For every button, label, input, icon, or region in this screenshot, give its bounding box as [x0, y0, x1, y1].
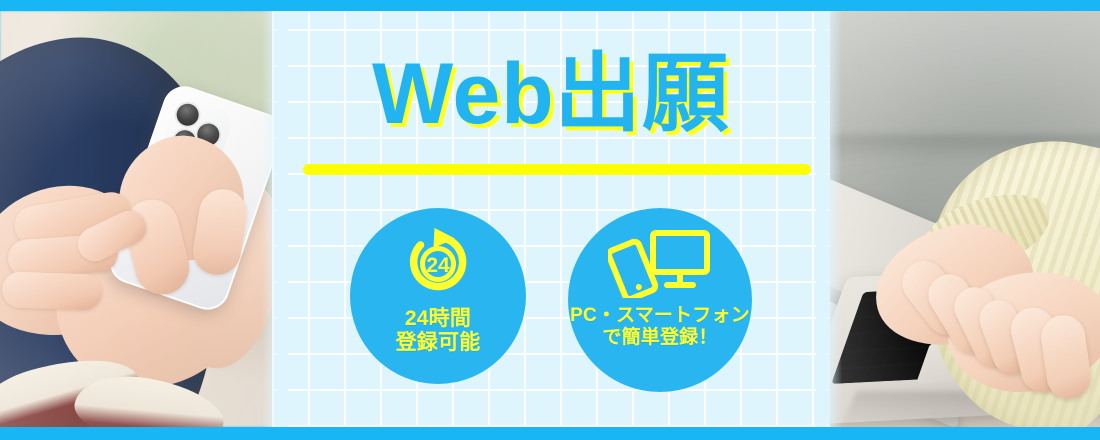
right-photo-inner: [828, 11, 1100, 427]
feature-badge-group: 24 24時間 登録可能: [272, 208, 830, 388]
smartphone-glyph: [608, 240, 657, 298]
badge-device-support: PC・スマートフォン で簡単登録！: [568, 208, 752, 392]
left-photo-vignette: [0, 11, 286, 427]
badge-device-line1: PC・スマートフォン: [570, 305, 750, 327]
page-title-latin: Web: [372, 46, 555, 142]
badge-device-line2: で簡単登録！: [570, 327, 750, 349]
page-title-kanji: 出願: [555, 46, 730, 142]
left-photo-inner: [0, 11, 286, 427]
badge-24h-text: 24時間 登録可能: [396, 307, 481, 354]
top-accent-bar: [0, 0, 1100, 11]
right-photo-vignette: [828, 11, 1100, 427]
monitor-glyph: [653, 233, 707, 288]
title-underline-bar: [303, 164, 811, 175]
svg-text:24: 24: [426, 254, 450, 277]
web-application-banner: Web出願 24 24時間 登録可能: [0, 0, 1100, 440]
bottom-accent-bar: [0, 427, 1100, 440]
clock-24h-arrow-icon: 24: [399, 226, 477, 303]
page-title: Web出願: [272, 48, 830, 141]
hands-holding-smartphone-photo: [0, 11, 286, 427]
badge-24h-line1: 24時間: [396, 307, 481, 331]
hands-typing-on-laptop-photo: [828, 11, 1100, 427]
monitor-and-smartphone-icon: [608, 228, 712, 303]
badge-device-text: PC・スマートフォン で簡単登録！: [570, 305, 750, 348]
badge-24h-availability: 24 24時間 登録可能: [350, 208, 526, 384]
badge-24h-line2: 登録可能: [396, 331, 481, 355]
